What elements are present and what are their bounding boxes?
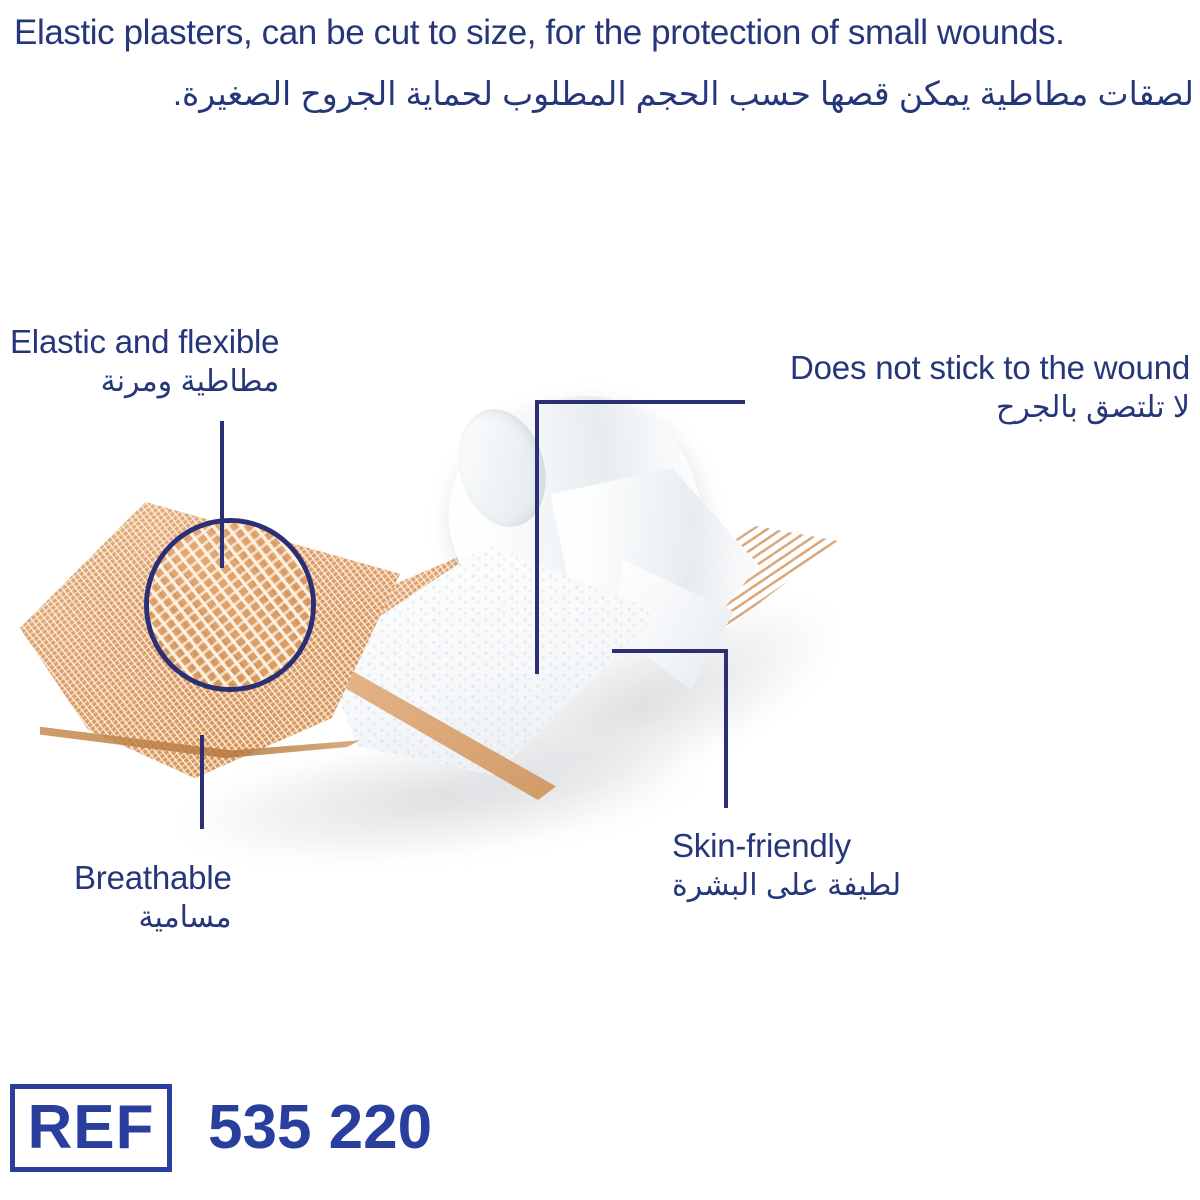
callout-elastic-label-en: Elastic and flexible — [10, 322, 279, 362]
callout-no-stick-label-ar: لا تلتصق بالجرح — [790, 388, 1190, 428]
callout-no-stick-label-en: Does not stick to the wound — [790, 348, 1190, 388]
callout-skin-friendly-label-en: Skin-friendly — [672, 826, 901, 866]
callout-does-not-stick: Does not stick to the wound لا تلتصق بال… — [790, 348, 1190, 428]
callout-elastic-and-flexible: Elastic and flexible مطاطية ومرنة — [10, 322, 279, 402]
reference-number: 535 220 — [208, 1097, 432, 1159]
callout-skin-friendly: Skin-friendly لطيفة على البشرة — [672, 826, 901, 906]
headline-english: Elastic plasters, can be cut to size, fo… — [14, 12, 1194, 54]
callout-breathable-label-en: Breathable — [74, 858, 232, 898]
callout-elastic-label-ar: مطاطية ومرنة — [10, 362, 279, 402]
callout-breathable-label-ar: مسامية — [74, 898, 232, 938]
headline-arabic: لصقات مطاطية يمكن قصها حسب الحجم المطلوب… — [4, 72, 1194, 116]
magnified-weave-texture — [144, 518, 316, 692]
ref-symbol-label: REF — [28, 1097, 155, 1159]
product-infographic: Elastic plasters, can be cut to size, fo… — [0, 0, 1200, 1200]
callout-skin-friendly-label-ar: لطيفة على البشرة — [672, 866, 901, 906]
reference-block: REF 535 220 — [10, 1084, 432, 1172]
callout-breathable: Breathable مسامية — [74, 858, 232, 938]
magnifier-circle — [144, 518, 316, 692]
ref-symbol-box: REF — [10, 1084, 172, 1172]
product-photo — [0, 330, 900, 890]
